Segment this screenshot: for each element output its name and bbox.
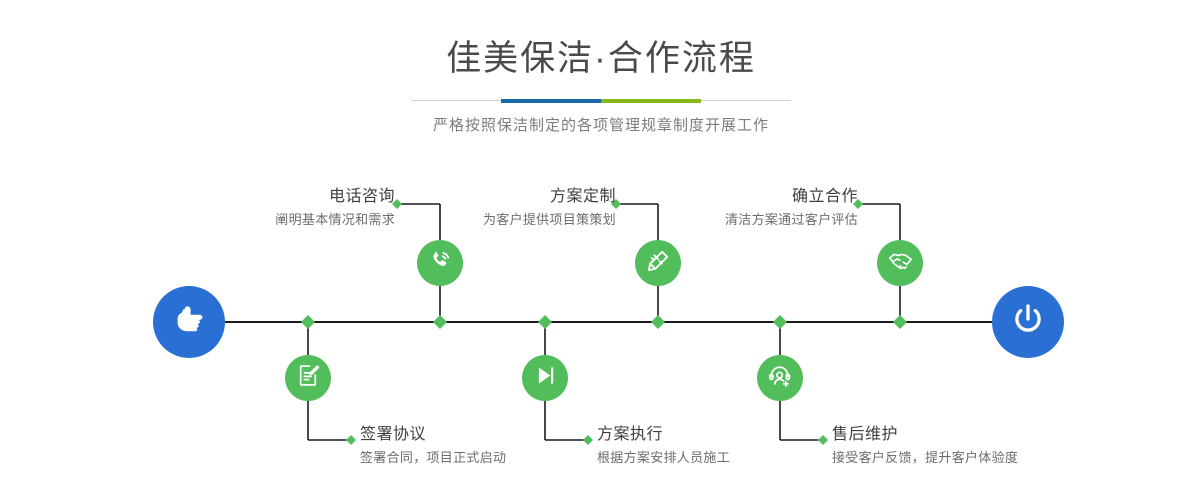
marker-diamond-step-4-axis — [538, 315, 552, 329]
step-node-6[interactable] — [757, 355, 803, 401]
play-skip-icon — [533, 363, 558, 393]
handshake-icon — [887, 247, 914, 279]
flow-start-node[interactable] — [153, 286, 225, 358]
marker-diamond-step-3-axis — [651, 315, 665, 329]
pointing-hand-icon — [170, 301, 208, 344]
power-icon — [1009, 301, 1047, 344]
step-label-3: 方案定制 为客户提供项目策策划 — [376, 186, 616, 230]
step-desc-6: 接受客户反馈，提升客户体验度 — [832, 446, 1152, 468]
step-node-4[interactable] — [522, 355, 568, 401]
marker-diamond-step-5-axis — [893, 315, 907, 329]
marker-diamond-step-6-axis — [773, 315, 787, 329]
step-title-6: 售后维护 — [832, 424, 1152, 446]
customer-support-icon — [767, 363, 793, 394]
step-desc-5: 清洁方案通过客户评估 — [618, 208, 858, 230]
step-node-5[interactable] — [877, 240, 923, 286]
step-node-2[interactable] — [285, 355, 331, 401]
document-edit-icon — [296, 363, 321, 393]
step-title-5: 确立合作 — [618, 186, 858, 208]
step-desc-1: 阐明基本情况和需求 — [155, 208, 395, 230]
marker-diamond-step-2-label — [346, 435, 356, 445]
step-node-3[interactable] — [635, 240, 681, 286]
flow-end-node[interactable] — [992, 286, 1064, 358]
phone-call-icon — [427, 248, 453, 279]
flowchart-page: 佳美保洁·合作流程 严格按照保洁制定的各项管理规章制度开展工作 — [0, 0, 1202, 502]
marker-diamond-step-2-axis — [301, 315, 315, 329]
marker-diamond-step-1-axis — [433, 315, 447, 329]
step-label-5: 确立合作 清洁方案通过客户评估 — [618, 186, 858, 230]
step-label-6: 售后维护 接受客户反馈，提升客户体验度 — [832, 424, 1152, 468]
step-node-1[interactable] — [417, 240, 463, 286]
step-title-1: 电话咨询 — [155, 186, 395, 208]
pencil-ruler-icon — [645, 248, 671, 279]
step-desc-3: 为客户提供项目策策划 — [376, 208, 616, 230]
step-title-3: 方案定制 — [376, 186, 616, 208]
step-label-1: 电话咨询 阐明基本情况和需求 — [155, 186, 395, 230]
